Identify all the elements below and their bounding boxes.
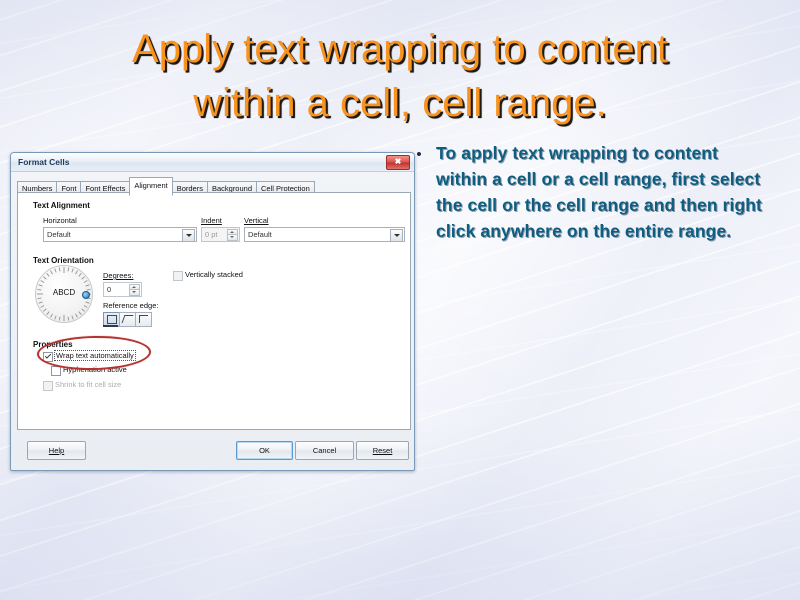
- indent-stepper[interactable]: 0 pt: [201, 227, 240, 242]
- degrees-label: Degrees:: [103, 271, 133, 280]
- format-cells-dialog[interactable]: Format Cells ✖ Numbers Font Font Effects…: [10, 152, 415, 471]
- indent-value: 0 pt: [205, 230, 218, 239]
- slide-body-text: To apply text wrapping to content within…: [436, 140, 770, 244]
- indent-decrement-icon[interactable]: [227, 234, 238, 241]
- degrees-value: 0: [107, 285, 111, 294]
- vertical-alignment-value: Default: [248, 230, 272, 239]
- chevron-down-icon[interactable]: [182, 229, 195, 242]
- reference-edge-selected-underline: [103, 325, 118, 327]
- presentation-slide: Apply text wrapping to content within a …: [0, 0, 800, 600]
- text-orientation-dial[interactable]: ABCD: [35, 265, 93, 323]
- dialog-titlebar[interactable]: Format Cells ✖: [11, 153, 414, 172]
- horizontal-alignment-select[interactable]: Default: [43, 227, 197, 242]
- dialog-title: Format Cells: [18, 157, 70, 167]
- reference-edge-label: Reference edge:: [103, 301, 158, 310]
- vertically-stacked-checkbox[interactable]: [173, 271, 183, 281]
- indent-label: Indent: [201, 216, 222, 225]
- chevron-down-icon[interactable]: [390, 229, 403, 242]
- degrees-decrement-icon[interactable]: [129, 289, 140, 296]
- hyphenation-active-checkbox[interactable]: [51, 366, 61, 376]
- vertical-label: Vertical: [244, 216, 269, 225]
- degrees-stepper[interactable]: 0: [103, 282, 142, 297]
- help-button[interactable]: Help: [27, 441, 86, 460]
- dial-handle[interactable]: [82, 291, 90, 299]
- text-orientation-group-label: Text Orientation: [33, 256, 94, 265]
- tab-alignment[interactable]: Alignment: [129, 177, 172, 196]
- slide-body-bullet-list: • To apply text wrapping to content with…: [410, 140, 770, 244]
- horizontal-label: Horizontal: [43, 216, 77, 225]
- text-alignment-group-label: Text Alignment: [33, 201, 90, 210]
- shrink-to-fit-checkbox: [43, 381, 53, 391]
- reset-button[interactable]: Reset: [356, 441, 409, 460]
- horizontal-alignment-value: Default: [47, 230, 71, 239]
- reference-edge-diagonal-icon[interactable]: [119, 312, 136, 327]
- close-icon[interactable]: ✖: [386, 155, 410, 170]
- slide-title: Apply text wrapping to content within a …: [0, 22, 800, 130]
- help-button-label: Help: [49, 446, 64, 455]
- ok-button[interactable]: OK: [236, 441, 293, 460]
- reference-edge-top-icon[interactable]: [135, 312, 152, 327]
- shrink-to-fit-label: Shrink to fit cell size: [55, 380, 121, 389]
- reset-button-label: Reset: [373, 446, 393, 455]
- cancel-button[interactable]: Cancel: [295, 441, 354, 460]
- vertically-stacked-label: Vertically stacked: [185, 270, 243, 279]
- vertical-alignment-select[interactable]: Default: [244, 227, 405, 242]
